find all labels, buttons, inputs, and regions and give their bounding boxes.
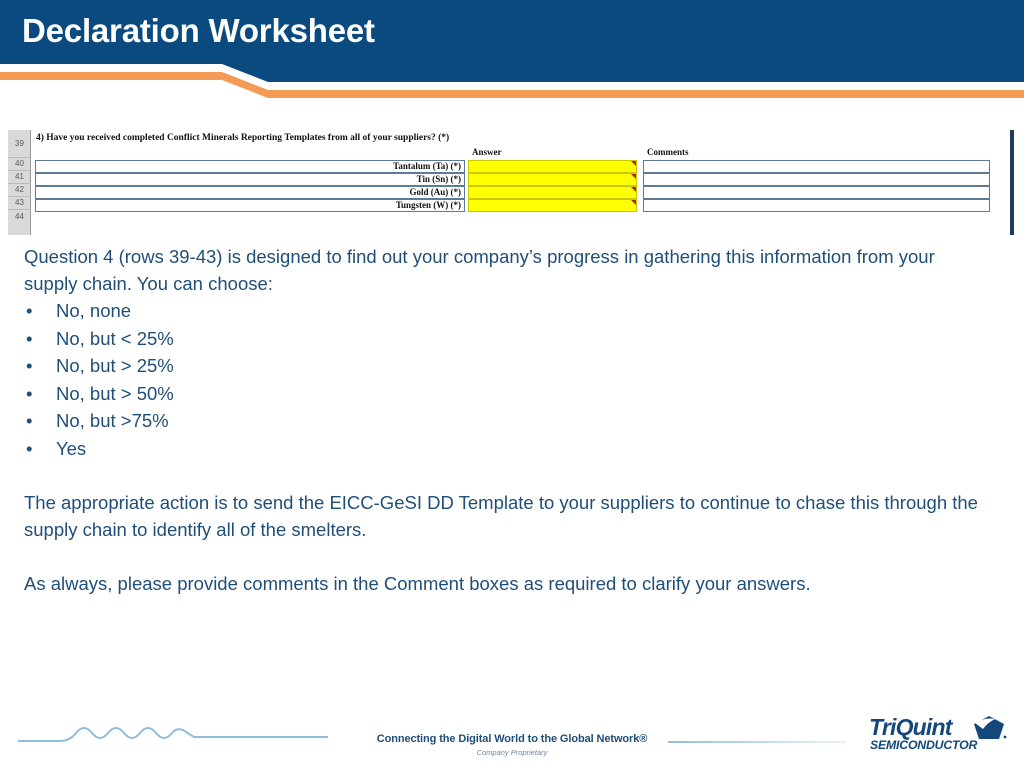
action-paragraph: The appropriate action is to send the EI… bbox=[24, 489, 984, 543]
table-row: Tungsten (W) (*) bbox=[31, 199, 993, 212]
answer-input-cell[interactable] bbox=[468, 199, 637, 212]
mineral-label-cell: Tantalum (Ta) (*) bbox=[35, 160, 465, 173]
spreadsheet-grid: 4) Have you received completed Conflict … bbox=[31, 130, 993, 235]
worksheet-right-edge-bar bbox=[1010, 130, 1014, 235]
list-item: • Yes bbox=[24, 435, 984, 463]
comment-input-cell[interactable] bbox=[643, 186, 990, 199]
list-item-label: No, but >75% bbox=[56, 410, 169, 431]
table-row: Gold (Au) (*) bbox=[31, 186, 993, 199]
comment-input-cell[interactable] bbox=[643, 173, 990, 186]
table-row: Tin (Sn) (*) bbox=[31, 173, 993, 186]
pentagon-swoosh-icon bbox=[973, 715, 1007, 741]
bullet-icon: • bbox=[26, 297, 32, 325]
row-number: 42 bbox=[8, 184, 31, 197]
comments-paragraph: As always, please provide comments in th… bbox=[24, 570, 984, 597]
page-title: Declaration Worksheet bbox=[22, 12, 375, 50]
row-number: 39 bbox=[8, 130, 31, 158]
row-number: 41 bbox=[8, 171, 31, 184]
comment-flag-icon bbox=[631, 200, 636, 205]
comment-flag-icon bbox=[631, 174, 636, 179]
comment-flag-icon bbox=[631, 187, 636, 192]
slide-header: Declaration Worksheet bbox=[0, 0, 1024, 100]
list-item: • No, but > 25% bbox=[24, 352, 984, 380]
answer-options-list: • No, none • No, but < 25% • No, but > 2… bbox=[24, 297, 984, 462]
mineral-label-cell: Tungsten (W) (*) bbox=[35, 199, 465, 212]
list-item-label: No, none bbox=[56, 300, 131, 321]
slide-body: Question 4 (rows 39-43) is designed to f… bbox=[24, 243, 984, 597]
comment-flag-icon bbox=[631, 161, 636, 166]
bullet-icon: • bbox=[26, 435, 32, 463]
list-item: • No, but < 25% bbox=[24, 325, 984, 353]
row-number: 40 bbox=[8, 158, 31, 171]
worksheet-screenshot: 39 40 41 42 43 44 4) Have you received c… bbox=[8, 130, 993, 235]
column-header-answer: Answer bbox=[472, 147, 502, 157]
bullet-icon: • bbox=[26, 352, 32, 380]
logo-wordmark: TriQuint bbox=[869, 714, 952, 741]
answer-input-cell[interactable] bbox=[468, 186, 637, 199]
list-item-label: No, but > 25% bbox=[56, 355, 174, 376]
column-header-comments: Comments bbox=[647, 147, 689, 157]
list-item: • No, none bbox=[24, 297, 984, 325]
spreadsheet-row-header-gutter: 39 40 41 42 43 44 bbox=[8, 130, 31, 235]
bullet-icon: • bbox=[26, 325, 32, 353]
answer-input-cell[interactable] bbox=[468, 160, 637, 173]
list-item: • No, but > 50% bbox=[24, 380, 984, 408]
list-item-label: Yes bbox=[56, 438, 86, 459]
logo-subtitle: SEMICONDUCTOR bbox=[870, 738, 977, 752]
list-item-label: No, but < 25% bbox=[56, 328, 174, 349]
triquint-logo: TriQuint SEMICONDUCTOR bbox=[869, 714, 1009, 756]
intro-paragraph: Question 4 (rows 39-43) is designed to f… bbox=[24, 243, 984, 297]
row-number: 43 bbox=[8, 197, 31, 210]
comment-input-cell[interactable] bbox=[643, 199, 990, 212]
bullet-icon: • bbox=[26, 380, 32, 408]
table-row: Tantalum (Ta) (*) bbox=[31, 160, 993, 173]
mineral-label-cell: Gold (Au) (*) bbox=[35, 186, 465, 199]
worksheet-question-text: 4) Have you received completed Conflict … bbox=[36, 132, 456, 145]
list-item: • No, but >75% bbox=[24, 407, 984, 435]
list-item-label: No, but > 50% bbox=[56, 383, 174, 404]
mineral-label-cell: Tin (Sn) (*) bbox=[35, 173, 465, 186]
answer-input-cell[interactable] bbox=[468, 173, 637, 186]
comment-input-cell[interactable] bbox=[643, 160, 990, 173]
bullet-icon: • bbox=[26, 407, 32, 435]
row-number: 44 bbox=[8, 210, 31, 224]
